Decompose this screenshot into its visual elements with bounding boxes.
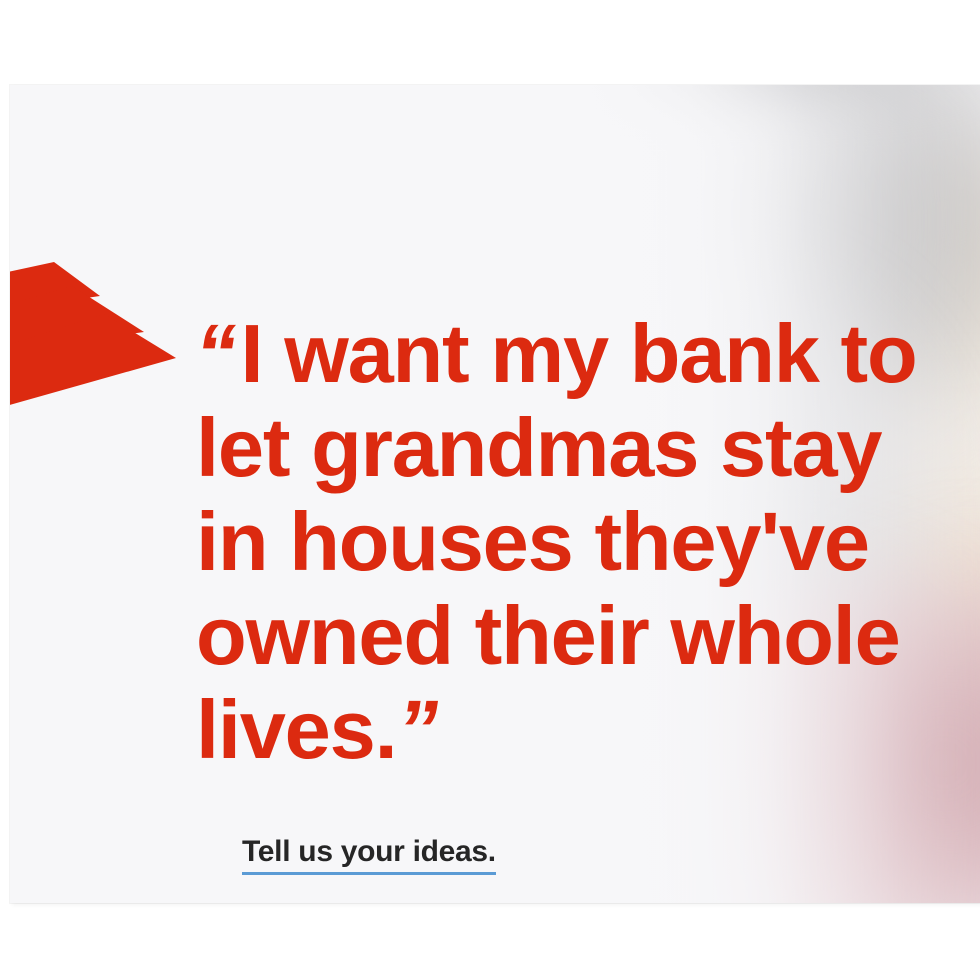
- headline-line-1: “I want my bank to: [196, 307, 980, 401]
- close-quote-glyph: ”: [391, 683, 448, 777]
- ad-content-layer: “I want my bank to let grandmas stay in …: [10, 85, 980, 903]
- headline-line-1-text: I want my bank to: [241, 307, 917, 400]
- headline-line-5: lives.”: [196, 683, 980, 777]
- bank-of-america-ad-banner[interactable]: “I want my bank to let grandmas stay in …: [10, 85, 980, 903]
- bank-of-america-flagscape-icon: [10, 210, 218, 410]
- headline: “I want my bank to let grandmas stay in …: [196, 307, 980, 777]
- page-canvas: “I want my bank to let grandmas stay in …: [0, 0, 980, 980]
- headline-line-3: in houses they've: [196, 495, 980, 589]
- open-quote-glyph: “: [189, 307, 246, 401]
- tell-us-your-ideas-link[interactable]: Tell us your ideas.: [242, 835, 496, 875]
- headline-line-5-text: lives.: [196, 683, 396, 776]
- headline-line-4: owned their whole: [196, 589, 980, 683]
- headline-line-2: let grandmas stay: [196, 401, 980, 495]
